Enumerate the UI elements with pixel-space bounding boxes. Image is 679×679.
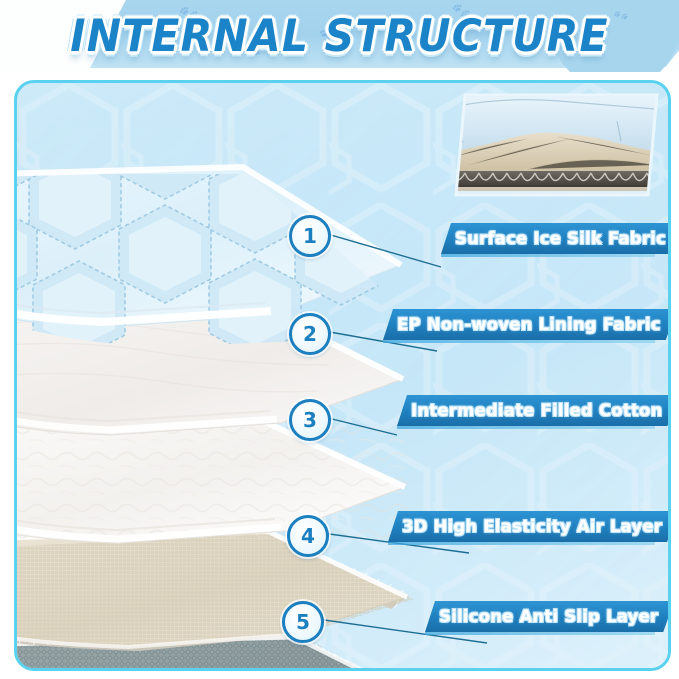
infographic-page: 🐾 🐾 🐾 🐾 🐾 🐾 INTERNAL STRUCTURE [0,0,679,679]
layer-stack-illustration [14,80,429,671]
layer-number-badge-5[interactable]: 5 [282,601,324,643]
badge-number-5: 5 [296,610,310,634]
layer-label-banner-5[interactable]: Silicone Anti Slip Layer [425,601,671,632]
layer-label-underline-5 [425,632,655,635]
layer-label-underline-4 [388,542,655,545]
badge-number-1: 1 [303,224,317,248]
layer-label-underline-1 [441,254,655,257]
layer-label-banner-4[interactable]: 3D High Elasticity Air Layer [388,511,671,542]
badge-number-4: 4 [301,524,315,548]
layer-number-badge-1[interactable]: 1 [289,215,331,257]
content-frame: 1 2 3 4 5 Surface Ice Silk Fabric EP Non… [14,80,671,671]
layer-label-underline-2 [383,340,655,343]
layer-number-badge-4[interactable]: 4 [287,515,329,557]
header-banner: 🐾 🐾 🐾 🐾 🐾 🐾 INTERNAL STRUCTURE [0,0,679,72]
page-title-text: INTERNAL STRUCTURE [70,10,608,62]
layer-label-banner-3[interactable]: Intermediate Filled Cotton [397,395,671,426]
layer-label-text-5: Silicone Anti Slip Layer [439,607,658,626]
layer-label-text-4: 3D High Elasticity Air Layer [402,517,662,536]
layer-label-banner-1[interactable]: Surface Ice Silk Fabric [441,223,671,254]
layer-label-underline-3 [397,426,655,429]
layer-3-shape [14,419,409,543]
page-title: INTERNAL STRUCTURE [0,0,679,72]
layer-label-text-3: Intermediate Filled Cotton [411,401,662,420]
layer-number-badge-3[interactable]: 3 [289,399,331,441]
layer-label-text-1: Surface Ice Silk Fabric [455,229,666,248]
layer-label-banner-2[interactable]: EP Non-woven Lining Fabric [383,309,671,340]
badge-number-3: 3 [303,408,317,432]
layer-label-text-2: EP Non-woven Lining Fabric [397,315,661,334]
cross-section-close-up-photo [449,91,664,201]
badge-number-2: 2 [303,322,317,346]
layer-number-badge-2[interactable]: 2 [289,313,331,355]
